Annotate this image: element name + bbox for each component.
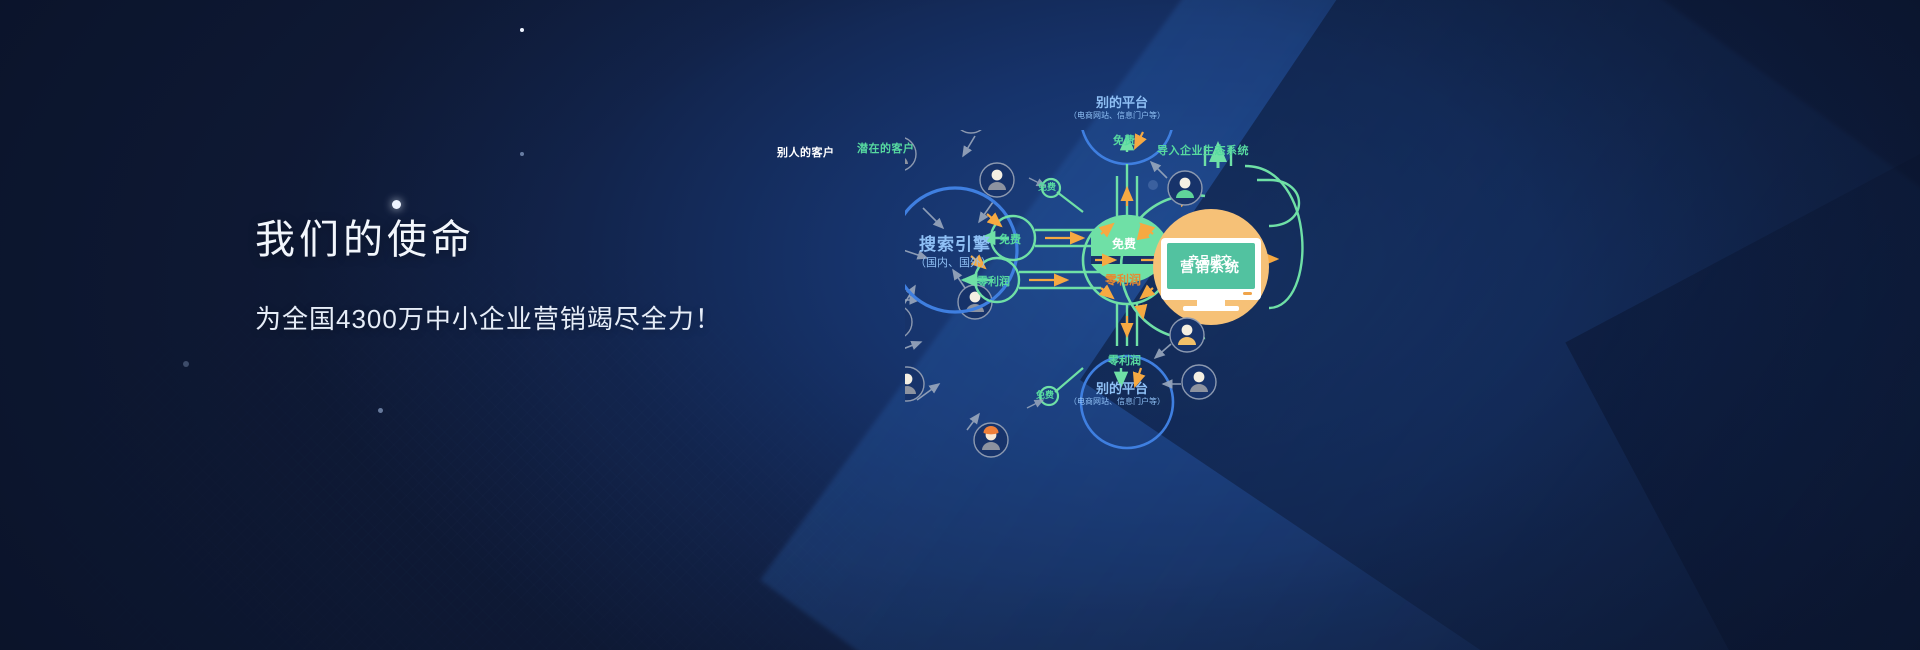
page-title: 我们的使命 <box>255 215 722 265</box>
page-subtitle: 为全国4300万中小企业营销竭尽全力！ <box>255 299 722 336</box>
platform-bottom-subtitle: （电商网站、信息门户等） <box>1069 396 1165 407</box>
search-zero-profit-badge: 零利润 <box>977 273 1010 289</box>
spark-dot-3 <box>392 200 401 209</box>
label-others-customers: 别人的客户 <box>777 144 835 160</box>
platform-top-badge: 免费 <box>1113 132 1135 148</box>
spark-dot-4 <box>183 361 189 367</box>
search-free-badge: 免费 <box>999 231 1021 247</box>
spark-dot-2 <box>520 152 524 156</box>
hero-copy: 我们的使命 为全国4300万中小企业营销竭尽全力！ <box>255 215 722 336</box>
label-import-ecosystem: 导入企业生态系统 <box>1157 142 1249 158</box>
platform-top-title: 别的平台 <box>1096 92 1148 111</box>
search-engine-title: 搜索引擎 <box>919 230 991 255</box>
edge-label-free-2: 免费 <box>1036 388 1054 401</box>
marketing-system-label: 营销系统 <box>1180 257 1240 277</box>
platform-top-subtitle: （电商网站、信息门户等） <box>1069 110 1165 121</box>
hub-zero-profit-label: 零利润 <box>1105 271 1141 288</box>
diagram-canvas <box>905 130 1525 530</box>
platform-bottom-title: 别的平台 <box>1096 378 1148 397</box>
hub-free-label: 免费 <box>1112 235 1136 252</box>
hero-banner: 我们的使命 为全国4300万中小企业营销竭尽全力！ <box>0 0 1920 650</box>
spark-dot-1 <box>520 28 524 32</box>
platform-bottom-badge: 零利润 <box>1108 352 1141 368</box>
label-potential-customers: 潜在的客户 <box>857 140 915 156</box>
spark-dot-5 <box>378 408 383 413</box>
search-engine-subtitle: （国内、国外） <box>915 254 992 270</box>
ecosystem-diagram: 别人的客户 潜在的客户 导入企业生态系统 搜索引擎 （国内、国外） 免费 零利润… <box>905 130 1525 530</box>
edge-label-free-1: 免费 <box>1038 180 1056 193</box>
